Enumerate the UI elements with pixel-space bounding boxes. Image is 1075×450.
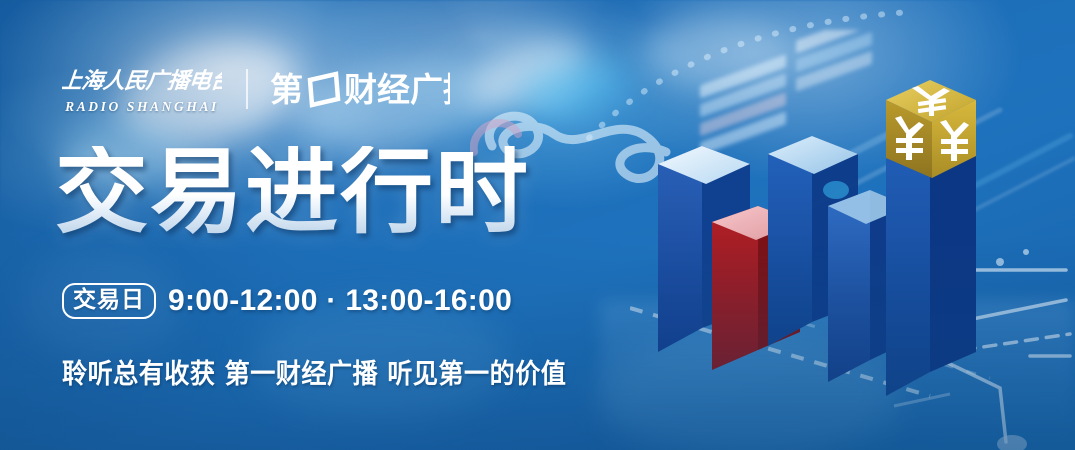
yicai-radio-logo: 第 财经广播 (270, 68, 450, 110)
svg-text:财经广播: 财经广播 (344, 70, 450, 109)
yi-square-glyph (310, 74, 338, 105)
page-title: 交易进行时 (55, 146, 530, 239)
schedule-times: 9:00-12:00 · 13:00-16:00 (168, 284, 512, 318)
trading-day-badge: 交易日 (62, 283, 156, 319)
logo-divider (246, 69, 248, 109)
radio-shanghai-logo: 上海人民广播电台 RADIO SHANGHAI (62, 62, 222, 115)
logo-row: 上海人民广播电台 RADIO SHANGHAI 第 财经广播 (62, 62, 450, 115)
tagline: 聆听总有收获 第一财经广播 听见第一的价值 (62, 352, 566, 391)
svg-text:第: 第 (270, 70, 303, 109)
shanghai-radio-chinese-calligraphy-logo: 上海人民广播电台 (62, 62, 222, 96)
radio-shanghai-english-label: RADIO SHANGHAI (65, 99, 219, 115)
radio-program-banner: 上海人民广播电台 RADIO SHANGHAI 第 财经广播 交易进行时 交易日… (0, 0, 1075, 450)
svg-text:上海人民广播电台: 上海人民广播电台 (62, 68, 222, 93)
schedule-row: 交易日 9:00-12:00 · 13:00-16:00 (62, 283, 512, 319)
yicai-radio-wordmark: 第 财经广播 (270, 68, 450, 110)
